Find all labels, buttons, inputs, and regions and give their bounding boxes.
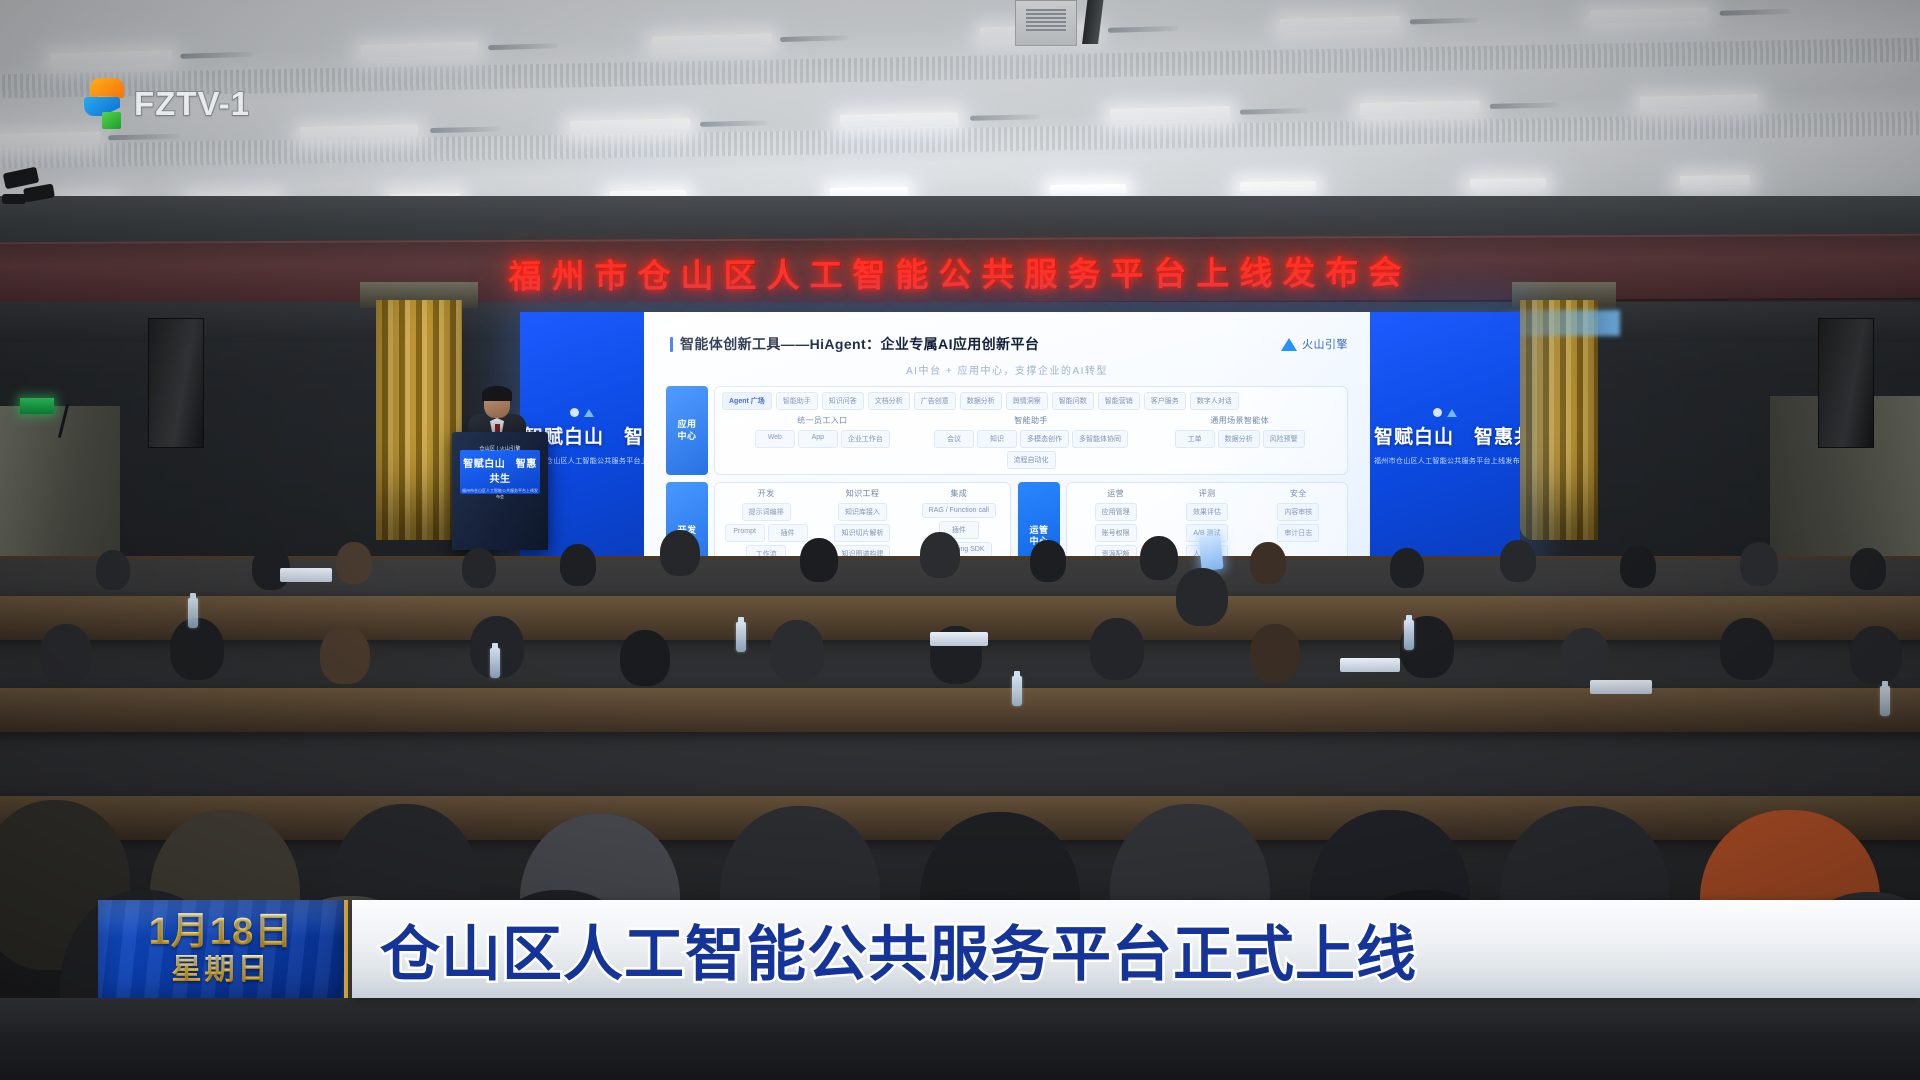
ceiling — [0, 0, 1920, 212]
channel-logo: FZTV-1 — [84, 78, 250, 130]
audience-head — [1620, 546, 1656, 588]
diagram-row-body: Agent 广场 智能助手 知识问答 文档分析 广告创意 数据分析 舆情洞察 智… — [714, 386, 1348, 475]
stage-led-banner-text: 福州市仓山区人工智能公共服务平台上线发布会 — [508, 246, 1411, 298]
diagram-chip: Prompt — [725, 524, 765, 542]
diagram-chip: Web — [755, 430, 795, 448]
diagram-group-title: 通用场景智能体 — [1139, 415, 1340, 426]
speaker-cabinet-left — [148, 318, 204, 448]
speaker-hair — [482, 386, 512, 401]
diagram-chip: 应用管理 — [1095, 503, 1137, 521]
audience-head — [336, 542, 372, 584]
diagram-chip: 审计日志 — [1277, 524, 1319, 542]
diagram-group-title: 运营 — [1074, 488, 1157, 499]
diagram-row-label: 应用 中心 — [666, 386, 708, 475]
diagram-chip: 提示词编排 — [742, 503, 791, 521]
diagram-row-label-line1: 运管 — [1029, 525, 1048, 536]
volcano-engine-icon — [1447, 409, 1457, 417]
diagram-group-row: 统一员工入口 Web App 企业工作台 智能助手 会议 — [722, 415, 1340, 469]
slide-brand-text: 火山引擎 — [1302, 336, 1348, 352]
diagram-chip: 风险预警 — [1263, 430, 1305, 448]
diagram-chip: 会议 — [934, 430, 974, 448]
audience-head — [1030, 540, 1066, 582]
diagram-chip: 知识 — [977, 430, 1017, 448]
diagram-chip: 舆情洞察 — [1006, 392, 1048, 410]
slide-header: 智能体创新工具——HiAgent：企业专属AI应用创新平台 火山引擎 — [670, 334, 1348, 354]
diagram-chip: App — [798, 430, 838, 448]
audience-head — [620, 630, 670, 686]
diagram-chip: 内容审核 — [1277, 503, 1319, 521]
audience-head — [96, 550, 130, 590]
diagram-group-chips: Web App 企业工作台 — [722, 430, 923, 448]
diagram-chip: 账号权限 — [1095, 524, 1137, 542]
diagram-group-title: 统一员工入口 — [722, 415, 923, 426]
audience-head — [1850, 548, 1886, 590]
stage-curtain-left — [376, 300, 462, 540]
channel-logo-text: FZTV-1 — [134, 85, 250, 123]
audience-head — [1720, 618, 1774, 680]
audience-head — [1140, 536, 1178, 580]
diagram-group-title: 集成 — [915, 488, 1003, 499]
audience-head — [1500, 540, 1536, 582]
stage-led-banner: 福州市仓山区人工智能公共服务平台上线发布会 — [0, 240, 1920, 304]
diagram-chip: 数据分析 — [1218, 430, 1260, 448]
slide-title-accent-bar — [670, 337, 673, 352]
fztv-logo-icon — [84, 78, 126, 130]
audience-head — [1090, 618, 1144, 680]
diagram-group-title: 知识工程 — [818, 488, 906, 499]
audience-head — [1850, 626, 1902, 684]
water-bottle — [1880, 686, 1890, 716]
diagram-row-application-center: 应用 中心 Agent 广场 智能助手 知识问答 文档分析 广告创意 数据分析 … — [666, 386, 1348, 475]
diagram-chip: 工单 — [1175, 430, 1215, 448]
audience-head — [1390, 548, 1424, 588]
diagram-row-label-line1: 应用 — [677, 419, 696, 430]
diagram-group: 智能助手 会议 知识 多模态创作 多智能体协同 流程自动化 — [931, 415, 1132, 469]
diagram-group-title: 智能助手 — [931, 415, 1132, 426]
audience-head — [462, 548, 496, 588]
volcano-engine-icon — [584, 409, 594, 417]
slide-title-text: 智能体创新工具——HiAgent：企业专属AI应用创新平台 — [680, 334, 1039, 354]
desk-placard — [280, 568, 332, 582]
diagram-chip: 文档分析 — [868, 392, 910, 410]
poster-right-subline: 福州市仓山区人工智能公共服务平台上线发布会 — [1374, 456, 1516, 466]
ceiling-projector — [1015, 0, 1077, 46]
exit-sign — [20, 398, 54, 414]
district-emblem-icon — [570, 408, 579, 417]
diagram-row-label-line2: 中心 — [677, 431, 696, 442]
diagram-chip: 智能问数 — [1052, 392, 1094, 410]
diagram-chip: 智能助手 — [776, 392, 818, 410]
audience-head — [1176, 568, 1228, 626]
lower-third: 1月18日 星期日 仓山区人工智能公共服务平台正式上线 — [0, 900, 1920, 998]
date-box: 1月18日 星期日 — [98, 900, 348, 998]
desk-placard — [1590, 680, 1652, 694]
ceiling-camera-rig — [0, 160, 70, 220]
date-weekday: 星期日 — [172, 955, 271, 985]
broadcast-frame: 福州市仓山区人工智能公共服务平台上线发布会 智赋白山 智惠共生 福州市仓山区人工… — [0, 0, 1920, 1080]
headline-bar: 仓山区人工智能公共服务平台正式上线 — [352, 900, 1920, 998]
slide-brand-group: 火山引擎 — [1281, 336, 1348, 352]
diagram-chip: Agent 广场 — [722, 392, 772, 410]
desk-placard — [1340, 658, 1400, 672]
water-bottle — [188, 598, 198, 628]
audience-head — [920, 532, 960, 578]
diagram-chip: 效果评估 — [1186, 503, 1228, 521]
water-bottle — [1012, 676, 1022, 706]
date-day: 1月18日 — [149, 913, 293, 951]
audience-head — [660, 530, 700, 576]
news-headline: 仓山区人工智能公共服务平台正式上线 — [380, 906, 1417, 993]
diagram-chip: 智能营销 — [1098, 392, 1140, 410]
water-bottle — [1404, 620, 1414, 650]
diagram-group-title: 开发 — [722, 488, 810, 499]
diagram-group-title: 评测 — [1165, 488, 1248, 499]
diagram-chip: 多智能体协同 — [1072, 430, 1128, 448]
water-bottle — [736, 622, 746, 652]
stage-curtain-right — [1520, 300, 1598, 540]
diagram-chip: 流程自动化 — [1007, 451, 1056, 469]
desk-placard — [930, 632, 988, 646]
slide-subtitle: AI中台 + 应用中心，支撑企业的AI转型 — [644, 362, 1370, 377]
diagram-chip: 数字人对话 — [1190, 392, 1239, 410]
diagram-chip: 知识库接入 — [838, 503, 887, 521]
diagram-chip: 插件 — [768, 524, 808, 542]
water-bottle — [490, 648, 500, 678]
phone-screen — [1198, 535, 1223, 571]
audience-head — [800, 538, 838, 582]
diagram-group-chips: 会议 知识 多模态创作 多智能体协同 流程自动化 — [931, 430, 1132, 469]
diagram-chip: 广告创意 — [914, 392, 956, 410]
diagram-chip: 知识问答 — [822, 392, 864, 410]
district-emblem-icon — [1433, 408, 1442, 417]
audience-head — [40, 624, 92, 684]
slide-title-group: 智能体创新工具——HiAgent：企业专属AI应用创新平台 — [670, 334, 1039, 354]
diagram-chip: 客户服务 — [1144, 392, 1186, 410]
speaker-cabinet-right — [1818, 318, 1874, 448]
audience-head — [1740, 542, 1778, 586]
bottom-letterbox-strip — [0, 998, 1920, 1080]
diagram-chip: 数据分析 — [960, 392, 1002, 410]
diagram-group: 通用场景智能体 工单 数据分析 风险预警 — [1139, 415, 1340, 469]
audience-head — [1250, 542, 1286, 584]
podium: 仓山区 | 火山引擎 智赋白山 智惠共生 福州市仓山区人工智能公共服务平台上线发… — [452, 432, 548, 550]
podium-sign: 仓山区 | 火山引擎 智赋白山 智惠共生 福州市仓山区人工智能公共服务平台上线发… — [460, 450, 540, 494]
poster-left-logos — [524, 408, 640, 417]
diagram-chip: RAG / Function call — [922, 503, 996, 518]
diagram-group-title: 安全 — [1257, 488, 1340, 499]
poster-right-headline: 智赋白山 智惠共生 — [1374, 422, 1516, 449]
diagram-group-chips: 内容审核 审计日志 — [1257, 503, 1340, 542]
audience-desk-row — [0, 688, 1920, 732]
poster-right-content: 智赋白山 智惠共生 福州市仓山区人工智能公共服务平台上线发布会 — [1370, 408, 1520, 466]
podium-sign-headline: 智赋白山 智惠共生 — [462, 455, 538, 485]
diagram-group-chips: 工单 数据分析 风险预警 — [1139, 430, 1340, 448]
audience-head — [1250, 624, 1300, 682]
diagram-group: 统一员工入口 Web App 企业工作台 — [722, 415, 923, 469]
diagram-chip: 企业工作台 — [841, 430, 890, 448]
diagram-chip: 多模态创作 — [1020, 430, 1069, 448]
diagram-chip: 知识切片解析 — [834, 524, 890, 542]
volcano-engine-icon — [1281, 338, 1297, 351]
podium-sign-subline: 福州市仓山区人工智能公共服务平台上线发布会 — [462, 488, 538, 500]
audience-head — [1560, 628, 1610, 686]
poster-right-logos — [1374, 408, 1516, 417]
audience-head — [170, 618, 224, 680]
podium-sign-logos: 仓山区 | 火山引擎 — [462, 445, 538, 452]
audience-head — [560, 544, 596, 586]
audience-head — [770, 620, 824, 682]
audience-head — [320, 626, 370, 684]
diagram-chip-list: Agent 广场 智能助手 知识问答 文档分析 广告创意 数据分析 舆情洞察 智… — [722, 392, 1340, 410]
